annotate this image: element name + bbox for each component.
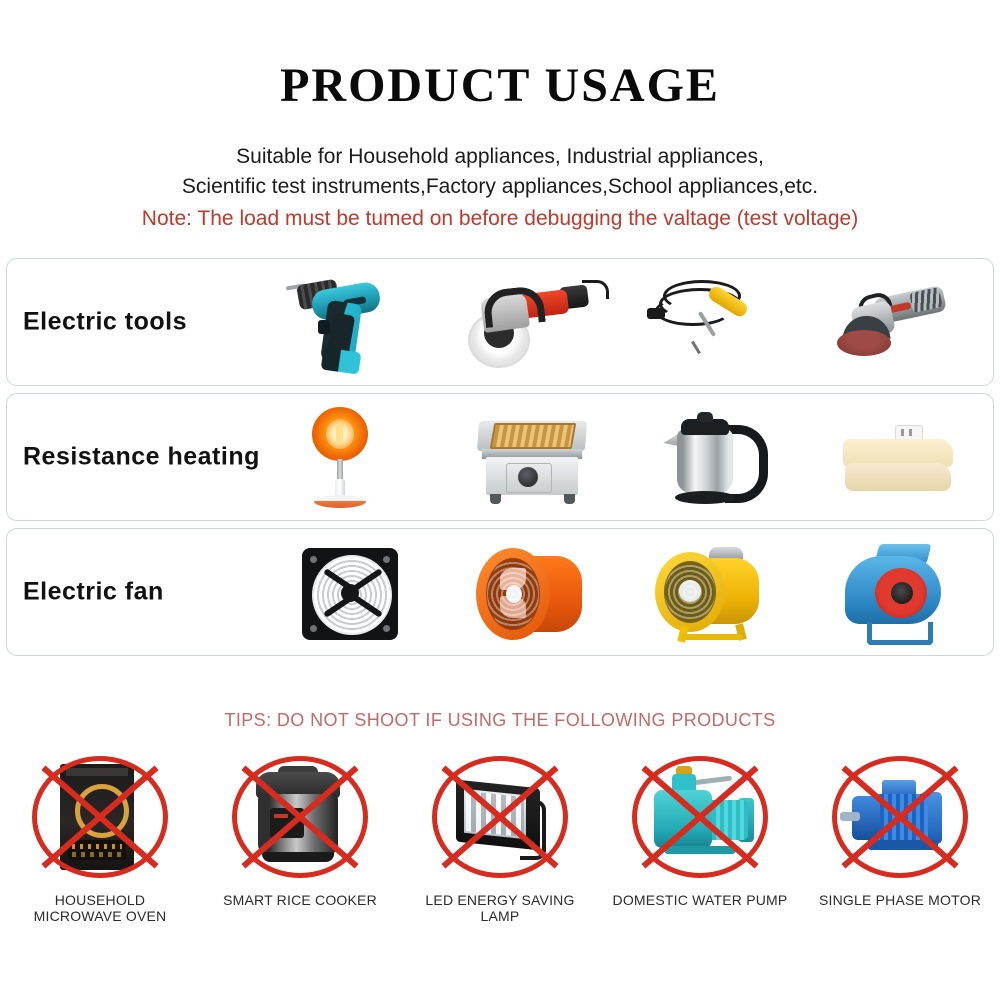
category-card-electric-tools: Electric tools	[6, 258, 994, 386]
soldering-iron-icon	[641, 268, 791, 376]
warning-note: Note: The load must be tumed on before d…	[0, 205, 1000, 233]
microwave-oven-icon	[20, 748, 180, 888]
polisher-icon	[460, 268, 610, 376]
product-square-exhaust-fan	[268, 532, 438, 652]
product-centrifugal-blower	[813, 532, 983, 652]
product-axial-blower	[450, 532, 620, 652]
product-soldering-iron	[631, 262, 801, 382]
rice-cooker-icon	[220, 748, 380, 888]
prohibited-item-water-pump: DOMESTIC WATER PUMP	[605, 748, 795, 908]
prohibited-item-microwave-oven: HOUSEHOLD MICROWAVE OVEN	[5, 748, 195, 924]
product-cordless-drill	[268, 262, 438, 382]
subtitle-line-1: Suitable for Household appliances, Indus…	[236, 145, 764, 168]
kettle-icon	[641, 403, 791, 511]
prohibited-item-led-lamp: LED ENERGY SAVING LAMP	[405, 748, 595, 924]
prohibited-products-list: HOUSEHOLD MICROWAVE OVEN SMART RICE COOK…	[0, 748, 1000, 924]
category-label-electric-fan: Electric fan	[23, 578, 164, 607]
centrifugal-blower-icon	[823, 538, 973, 646]
product-electric-kettle	[631, 397, 801, 517]
exhaust-fan-icon	[278, 538, 428, 646]
prohibited-caption-line-2: MICROWAVE OVEN	[5, 908, 195, 924]
category-card-electric-fan: Electric fan	[6, 528, 994, 656]
product-angle-grinder	[813, 262, 983, 382]
product-usage-infographic: PRODUCT USAGE Suitable for Household app…	[0, 0, 1000, 1000]
prohibited-item-rice-cooker: SMART RICE COOKER	[205, 748, 395, 908]
category-label-electric-tools: Electric tools	[23, 308, 187, 337]
ventilator-icon	[641, 538, 791, 646]
product-angle-polisher	[450, 262, 620, 382]
drill-icon	[278, 268, 428, 376]
prohibited-caption-line-1: HOUSEHOLD	[5, 892, 195, 908]
prohibited-item-single-phase-motor: SINGLE PHASE MOTOR	[805, 748, 995, 908]
prohibited-caption-line-1: SINGLE PHASE MOTOR	[805, 892, 995, 908]
category-items-electric-tools	[262, 259, 989, 385]
product-hot-plate	[450, 397, 620, 517]
hot-plate-icon	[460, 403, 610, 511]
product-halogen-heater	[268, 397, 438, 517]
prohibited-caption-line-1: DOMESTIC WATER PUMP	[605, 892, 795, 908]
led-lamp-icon	[420, 748, 580, 888]
prohibited-caption-line-1: LED ENERGY SAVING LAMP	[405, 892, 595, 924]
halogen-heater-icon	[278, 403, 428, 511]
subtitle-line-2: Scientific test instruments,Factory appl…	[0, 172, 1000, 202]
single-phase-motor-icon	[820, 748, 980, 888]
product-portable-ventilator	[631, 532, 801, 652]
category-card-list: Electric tools	[6, 258, 994, 663]
page-title: PRODUCT USAGE	[0, 58, 1000, 113]
blanket-icon	[823, 403, 973, 511]
angle-grinder-icon	[823, 268, 973, 376]
category-items-electric-fan	[262, 529, 989, 655]
category-items-resistance-heating	[262, 394, 989, 520]
product-electric-blanket	[813, 397, 983, 517]
axial-blower-icon	[460, 538, 610, 646]
prohibited-caption-line-1: SMART RICE COOKER	[205, 892, 395, 908]
water-pump-icon	[620, 748, 780, 888]
tips-heading: TIPS: DO NOT SHOOT IF USING THE FOLLOWIN…	[0, 710, 1000, 731]
subtitle-block: Suitable for Household appliances, Indus…	[0, 142, 1000, 202]
category-card-resistance-heating: Resistance heating	[6, 393, 994, 521]
category-label-resistance-heating: Resistance heating	[23, 443, 260, 472]
